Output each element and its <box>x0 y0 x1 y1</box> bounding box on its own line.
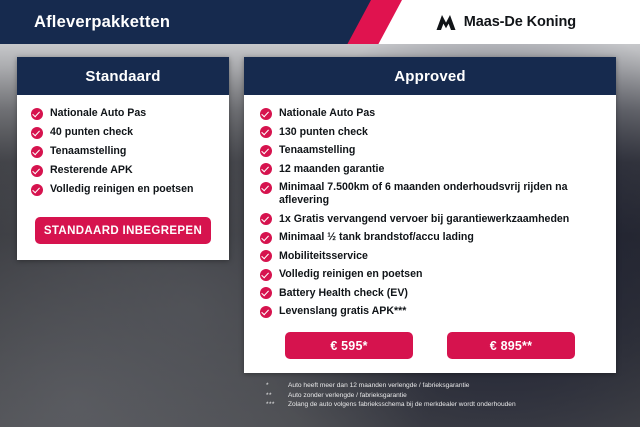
check-circle-icon <box>260 232 272 244</box>
approved-card-title: Approved <box>244 57 616 95</box>
footnote-row: **Auto zonder verlengde / fabrieksgarant… <box>266 391 626 401</box>
feature-label: Minimaal ½ tank brandstof/accu lading <box>279 231 600 244</box>
feature-list-item: Battery Health check (EV) <box>260 287 600 300</box>
check-circle-icon <box>260 126 272 138</box>
standaard-feature-list: Nationale Auto Pas40 punten checkTenaams… <box>31 107 215 196</box>
feature-list-item: 130 punten check <box>260 126 600 139</box>
feature-list-item: Nationale Auto Pas <box>260 107 600 120</box>
footnote-text: Auto heeft meer dan 12 maanden verlengde… <box>288 381 626 391</box>
brand-logo: Maas-De Koning <box>435 0 576 44</box>
standaard-card-title: Standaard <box>17 57 229 95</box>
standaard-inbegrepen-button[interactable]: STANDAARD INBEGREPEN <box>35 217 211 244</box>
feature-label: Volledig reinigen en poetsen <box>50 183 215 196</box>
feature-list-item: Volledig reinigen en poetsen <box>31 183 215 196</box>
feature-list-item: Tenaamstelling <box>260 144 600 157</box>
feature-list-item: 12 maanden garantie <box>260 163 600 176</box>
standaard-package-card: Standaard Nationale Auto Pas40 punten ch… <box>17 57 229 260</box>
page-title: Afleverpakketten <box>34 0 170 44</box>
feature-list-item: Levenslang gratis APK*** <box>260 305 600 318</box>
check-circle-icon <box>260 269 272 281</box>
feature-label: Volledig reinigen en poetsen <box>279 268 600 281</box>
check-circle-icon <box>260 306 272 318</box>
feature-label: 130 punten check <box>279 126 600 139</box>
brand-name: Maas-De Koning <box>464 14 576 30</box>
footnote-row: ***Zolang de auto volgens fabrieksschema… <box>266 400 626 410</box>
feature-list-item: Volledig reinigen en poetsen <box>260 268 600 281</box>
feature-label: Minimaal 7.500km of 6 maanden onderhouds… <box>279 181 600 207</box>
check-circle-icon <box>260 250 272 262</box>
check-circle-icon <box>260 145 272 157</box>
feature-label: Levenslang gratis APK*** <box>279 305 600 318</box>
feature-label: Mobiliteitsservice <box>279 250 600 263</box>
check-circle-icon <box>260 287 272 299</box>
footnote-marker: * <box>266 381 288 391</box>
check-circle-icon <box>31 108 43 120</box>
feature-label: 12 maanden garantie <box>279 163 600 176</box>
feature-label: Nationale Auto Pas <box>279 107 600 120</box>
check-circle-icon <box>31 127 43 139</box>
approved-feature-list: Nationale Auto Pas130 punten checkTenaam… <box>260 107 600 318</box>
page-header: Afleverpakketten Maas-De Koning <box>0 0 640 44</box>
feature-label: 1x Gratis vervangend vervoer bij garanti… <box>279 213 600 226</box>
feature-list-item: 1x Gratis vervangend vervoer bij garanti… <box>260 213 600 226</box>
feature-list-item: Resterende APK <box>31 164 215 177</box>
footnote-text: Auto zonder verlengde / fabrieksgarantie <box>288 391 626 401</box>
footnote-text: Zolang de auto volgens fabrieksschema bi… <box>288 400 626 410</box>
check-circle-icon <box>31 184 43 196</box>
check-circle-icon <box>31 165 43 177</box>
feature-label: Tenaamstelling <box>279 144 600 157</box>
footnote-row: *Auto heeft meer dan 12 maanden verlengd… <box>266 381 626 391</box>
check-circle-icon <box>260 108 272 120</box>
footnote-marker: *** <box>266 400 288 410</box>
feature-list-item: 40 punten check <box>31 126 215 139</box>
feature-list-item: Minimaal ½ tank brandstof/accu lading <box>260 231 600 244</box>
approved-package-card: Approved Nationale Auto Pas130 punten ch… <box>244 57 616 373</box>
maas-de-koning-m-mark-icon <box>435 14 457 31</box>
price-button-2[interactable]: € 895** <box>447 332 575 359</box>
feature-list-item: Tenaamstelling <box>31 145 215 158</box>
standaard-card-body: Nationale Auto Pas40 punten checkTenaams… <box>17 95 229 196</box>
approved-price-row: € 595*€ 895** <box>244 332 616 359</box>
feature-label: 40 punten check <box>50 126 215 139</box>
check-circle-icon <box>260 182 272 194</box>
footnotes: *Auto heeft meer dan 12 maanden verlengd… <box>266 381 626 410</box>
feature-label: Nationale Auto Pas <box>50 107 215 120</box>
feature-list-item: Nationale Auto Pas <box>31 107 215 120</box>
check-circle-icon <box>260 213 272 225</box>
feature-list-item: Minimaal 7.500km of 6 maanden onderhouds… <box>260 181 600 207</box>
feature-list-item: Mobiliteitsservice <box>260 250 600 263</box>
footnote-marker: ** <box>266 391 288 401</box>
feature-label: Tenaamstelling <box>50 145 215 158</box>
check-circle-icon <box>260 163 272 175</box>
feature-label: Resterende APK <box>50 164 215 177</box>
feature-label: Battery Health check (EV) <box>279 287 600 300</box>
approved-card-body: Nationale Auto Pas130 punten checkTenaam… <box>244 95 616 318</box>
price-button-1[interactable]: € 595* <box>285 332 413 359</box>
check-circle-icon <box>31 146 43 158</box>
